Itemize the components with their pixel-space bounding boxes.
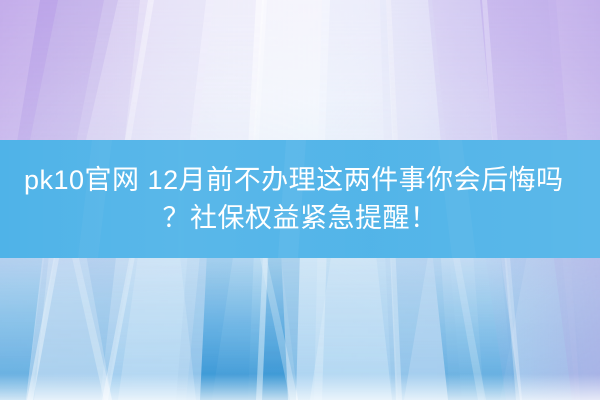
- banner-headline: pk10官网 12月前不办理这两件事你会后悔吗 ？社保权益紧急提醒！: [20, 161, 580, 237]
- headline-line-1: pk10官网 12月前不办理这两件事你会后悔吗: [20, 161, 580, 199]
- banner-image: pk10官网 12月前不办理这两件事你会后悔吗 ？社保权益紧急提醒！: [0, 0, 600, 400]
- headline-banner-strip: pk10官网 12月前不办理这两件事你会后悔吗 ？社保权益紧急提醒！: [0, 140, 600, 258]
- headline-line-2: ？社保权益紧急提醒！: [20, 199, 580, 237]
